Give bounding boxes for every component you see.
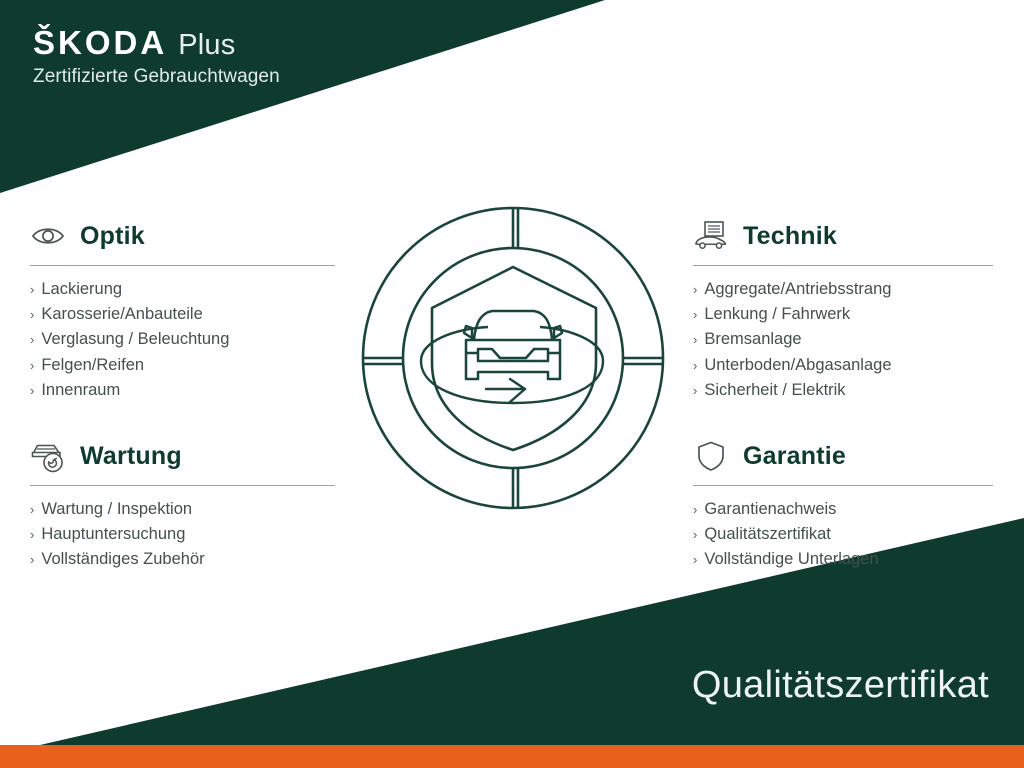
chevron-right-icon: ›	[30, 384, 34, 397]
chevron-right-icon: ›	[693, 308, 697, 321]
section-divider-wartung	[30, 485, 335, 486]
chevron-right-icon: ›	[30, 308, 34, 321]
list-item-label: Aggregate/Antriebsstrang	[704, 277, 891, 302]
car-front-icon	[464, 311, 562, 379]
section-divider-technik	[693, 265, 993, 266]
list-item: ›Vollständige Unterlagen	[693, 547, 993, 572]
section-list-wartung: ›Wartung / Inspektion ›Hauptuntersuchung…	[30, 497, 335, 573]
section-header-optik: Optik	[30, 216, 335, 256]
shield-car-rotation-emblem	[358, 203, 668, 513]
list-item: ›Felgen/Reifen	[30, 353, 335, 378]
section-technik: Technik ›Aggregate/Antriebsstrang ›Lenku…	[693, 216, 993, 403]
car-service-icon	[30, 439, 66, 473]
chevron-right-icon: ›	[693, 503, 697, 516]
eye-icon	[30, 219, 66, 253]
list-item: ›Unterboden/Abgasanlage	[693, 353, 993, 378]
list-item: ›Vollständiges Zubehör	[30, 547, 335, 572]
list-item: ›Lenkung / Fahrwerk	[693, 302, 993, 327]
brand-logo-row: ŠKODA Plus	[33, 26, 280, 60]
section-divider-optik	[30, 265, 335, 266]
section-list-optik: ›Lackierung ›Karosserie/Anbauteile ›Verg…	[30, 277, 335, 403]
outer-arc-top-left	[363, 208, 513, 358]
outer-arc-bottom-left	[363, 358, 513, 508]
inner-arc-top-left	[403, 248, 513, 358]
chevron-right-icon: ›	[693, 283, 697, 296]
brand-logo: ŠKODA Plus Zertifizierte Gebrauchtwagen	[33, 26, 280, 88]
section-title-garantie: Garantie	[743, 444, 846, 469]
page-title: Qualitätszertifikat	[692, 666, 989, 704]
list-item: ›Sicherheit / Elektrik	[693, 378, 993, 403]
outer-arc-top-right	[513, 208, 663, 358]
list-item-label: Bremsanlage	[704, 327, 801, 352]
inner-arc-top-right	[513, 248, 623, 358]
section-header-garantie: Garantie	[693, 436, 993, 476]
list-item-label: Wartung / Inspektion	[41, 497, 192, 522]
brand-tagline: Zertifizierte Gebrauchtwagen	[33, 67, 280, 88]
section-title-technik: Technik	[743, 224, 837, 249]
list-item: ›Innenraum	[30, 378, 335, 403]
brand-suffix: Plus	[178, 31, 235, 60]
chevron-right-icon: ›	[693, 528, 697, 541]
chevron-right-icon: ›	[693, 553, 697, 566]
list-item: ›Verglasung / Beleuchtung	[30, 327, 335, 352]
list-item-label: Garantienachweis	[704, 497, 836, 522]
list-item-label: Verglasung / Beleuchtung	[41, 327, 229, 352]
section-header-wartung: Wartung	[30, 436, 335, 476]
list-item-label: Qualitätszertifikat	[704, 522, 831, 547]
orbit-arrow-icon	[486, 379, 525, 402]
shield-icon	[693, 439, 729, 473]
list-item: ›Aggregate/Antriebsstrang	[693, 277, 993, 302]
section-wartung: Wartung ›Wartung / Inspektion ›Hauptunte…	[30, 436, 335, 573]
section-title-wartung: Wartung	[80, 444, 182, 469]
section-list-garantie: ›Garantienachweis ›Qualitätszertifikat ›…	[693, 497, 993, 573]
chevron-right-icon: ›	[30, 333, 34, 346]
list-item-label: Felgen/Reifen	[41, 353, 144, 378]
chevron-right-icon: ›	[30, 359, 34, 372]
orange-footer-bar	[0, 745, 1024, 768]
section-divider-garantie	[693, 485, 993, 486]
inner-arc-bottom-right	[513, 358, 623, 468]
section-title-optik: Optik	[80, 224, 145, 249]
section-header-technik: Technik	[693, 216, 993, 256]
list-item-label: Karosserie/Anbauteile	[41, 302, 202, 327]
list-item-label: Innenraum	[41, 378, 120, 403]
car-document-icon	[693, 219, 729, 253]
chevron-right-icon: ›	[30, 553, 34, 566]
chevron-right-icon: ›	[693, 384, 697, 397]
brand-wordmark: ŠKODA	[33, 26, 167, 59]
list-item: ›Qualitätszertifikat	[693, 522, 993, 547]
inner-arc-bottom-left	[403, 358, 513, 468]
list-item: ›Bremsanlage	[693, 327, 993, 352]
list-item-label: Sicherheit / Elektrik	[704, 378, 845, 403]
section-list-technik: ›Aggregate/Antriebsstrang ›Lenkung / Fah…	[693, 277, 993, 403]
section-optik: Optik ›Lackierung ›Karosserie/Anbauteile…	[30, 216, 335, 403]
list-item: ›Wartung / Inspektion	[30, 497, 335, 522]
section-garantie: Garantie ›Garantienachweis ›Qualitätszer…	[693, 436, 993, 573]
list-item: ›Karosserie/Anbauteile	[30, 302, 335, 327]
list-item: ›Hauptuntersuchung	[30, 522, 335, 547]
chevron-right-icon: ›	[30, 528, 34, 541]
list-item-label: Vollständige Unterlagen	[704, 547, 878, 572]
chevron-right-icon: ›	[30, 503, 34, 516]
list-item-label: Lenkung / Fahrwerk	[704, 302, 850, 327]
orbit-ring	[421, 327, 603, 403]
outer-arc-bottom-right	[513, 358, 663, 508]
list-item: ›Lackierung	[30, 277, 335, 302]
list-item-label: Unterboden/Abgasanlage	[704, 353, 891, 378]
chevron-right-icon: ›	[693, 333, 697, 346]
list-item-label: Vollständiges Zubehör	[41, 547, 204, 572]
chevron-right-icon: ›	[693, 359, 697, 372]
chevron-right-icon: ›	[30, 283, 34, 296]
list-item: ›Garantienachweis	[693, 497, 993, 522]
list-item-label: Hauptuntersuchung	[41, 522, 185, 547]
list-item-label: Lackierung	[41, 277, 122, 302]
